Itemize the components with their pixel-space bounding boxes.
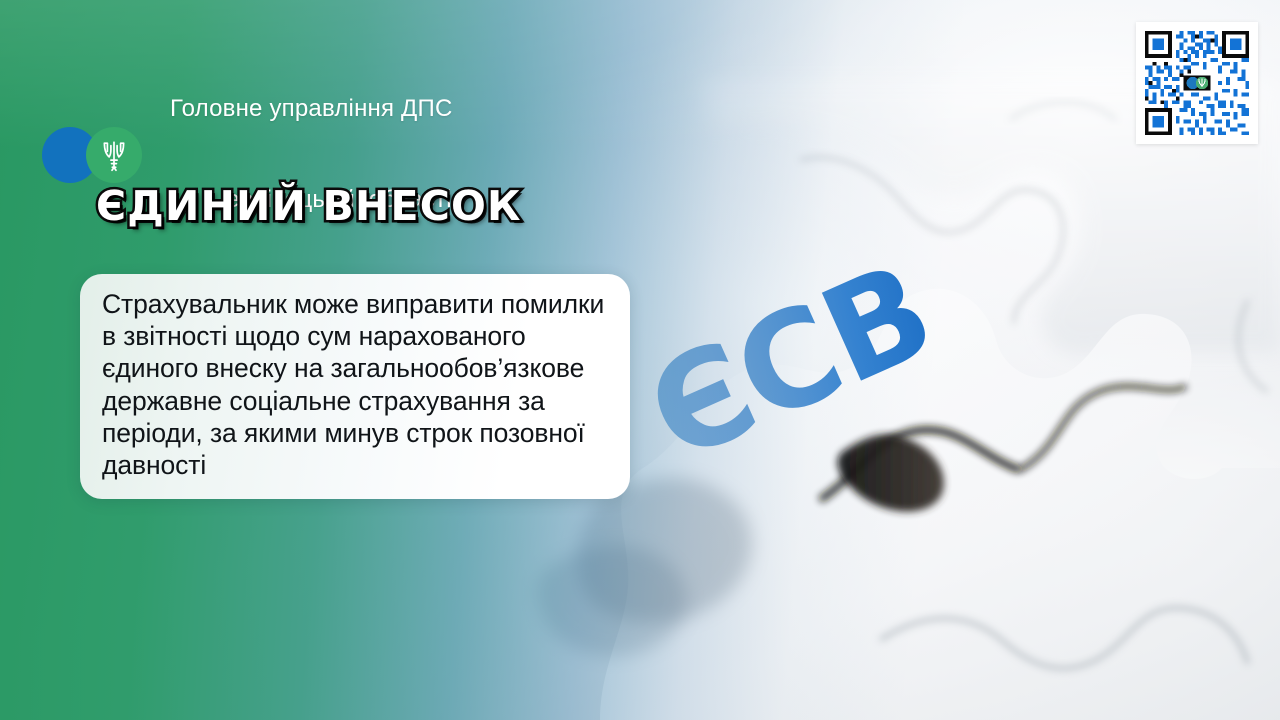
org-name-line-1: Головне управління ДПС [170, 94, 453, 124]
ukraine-trident-icon [101, 138, 127, 172]
qr-code[interactable] [1136, 22, 1258, 144]
qr-code-image [1141, 27, 1253, 139]
slide-canvas: ЄСВ [0, 0, 1280, 720]
page-title: ЄДИНИЙ ВНЕСОК [96, 182, 522, 230]
dps-logo[interactable] [42, 124, 160, 186]
logo-green-circle-icon [86, 127, 142, 183]
organisation-name: Головне управління ДПС у Чернівецькій об… [170, 34, 453, 276]
message-card: Страхувальник може виправити помилки в з… [80, 274, 630, 499]
message-card-text: Страхувальник може виправити помилки в з… [102, 288, 608, 481]
header: Головне управління ДПС у Чернівецькій об… [42, 34, 453, 276]
